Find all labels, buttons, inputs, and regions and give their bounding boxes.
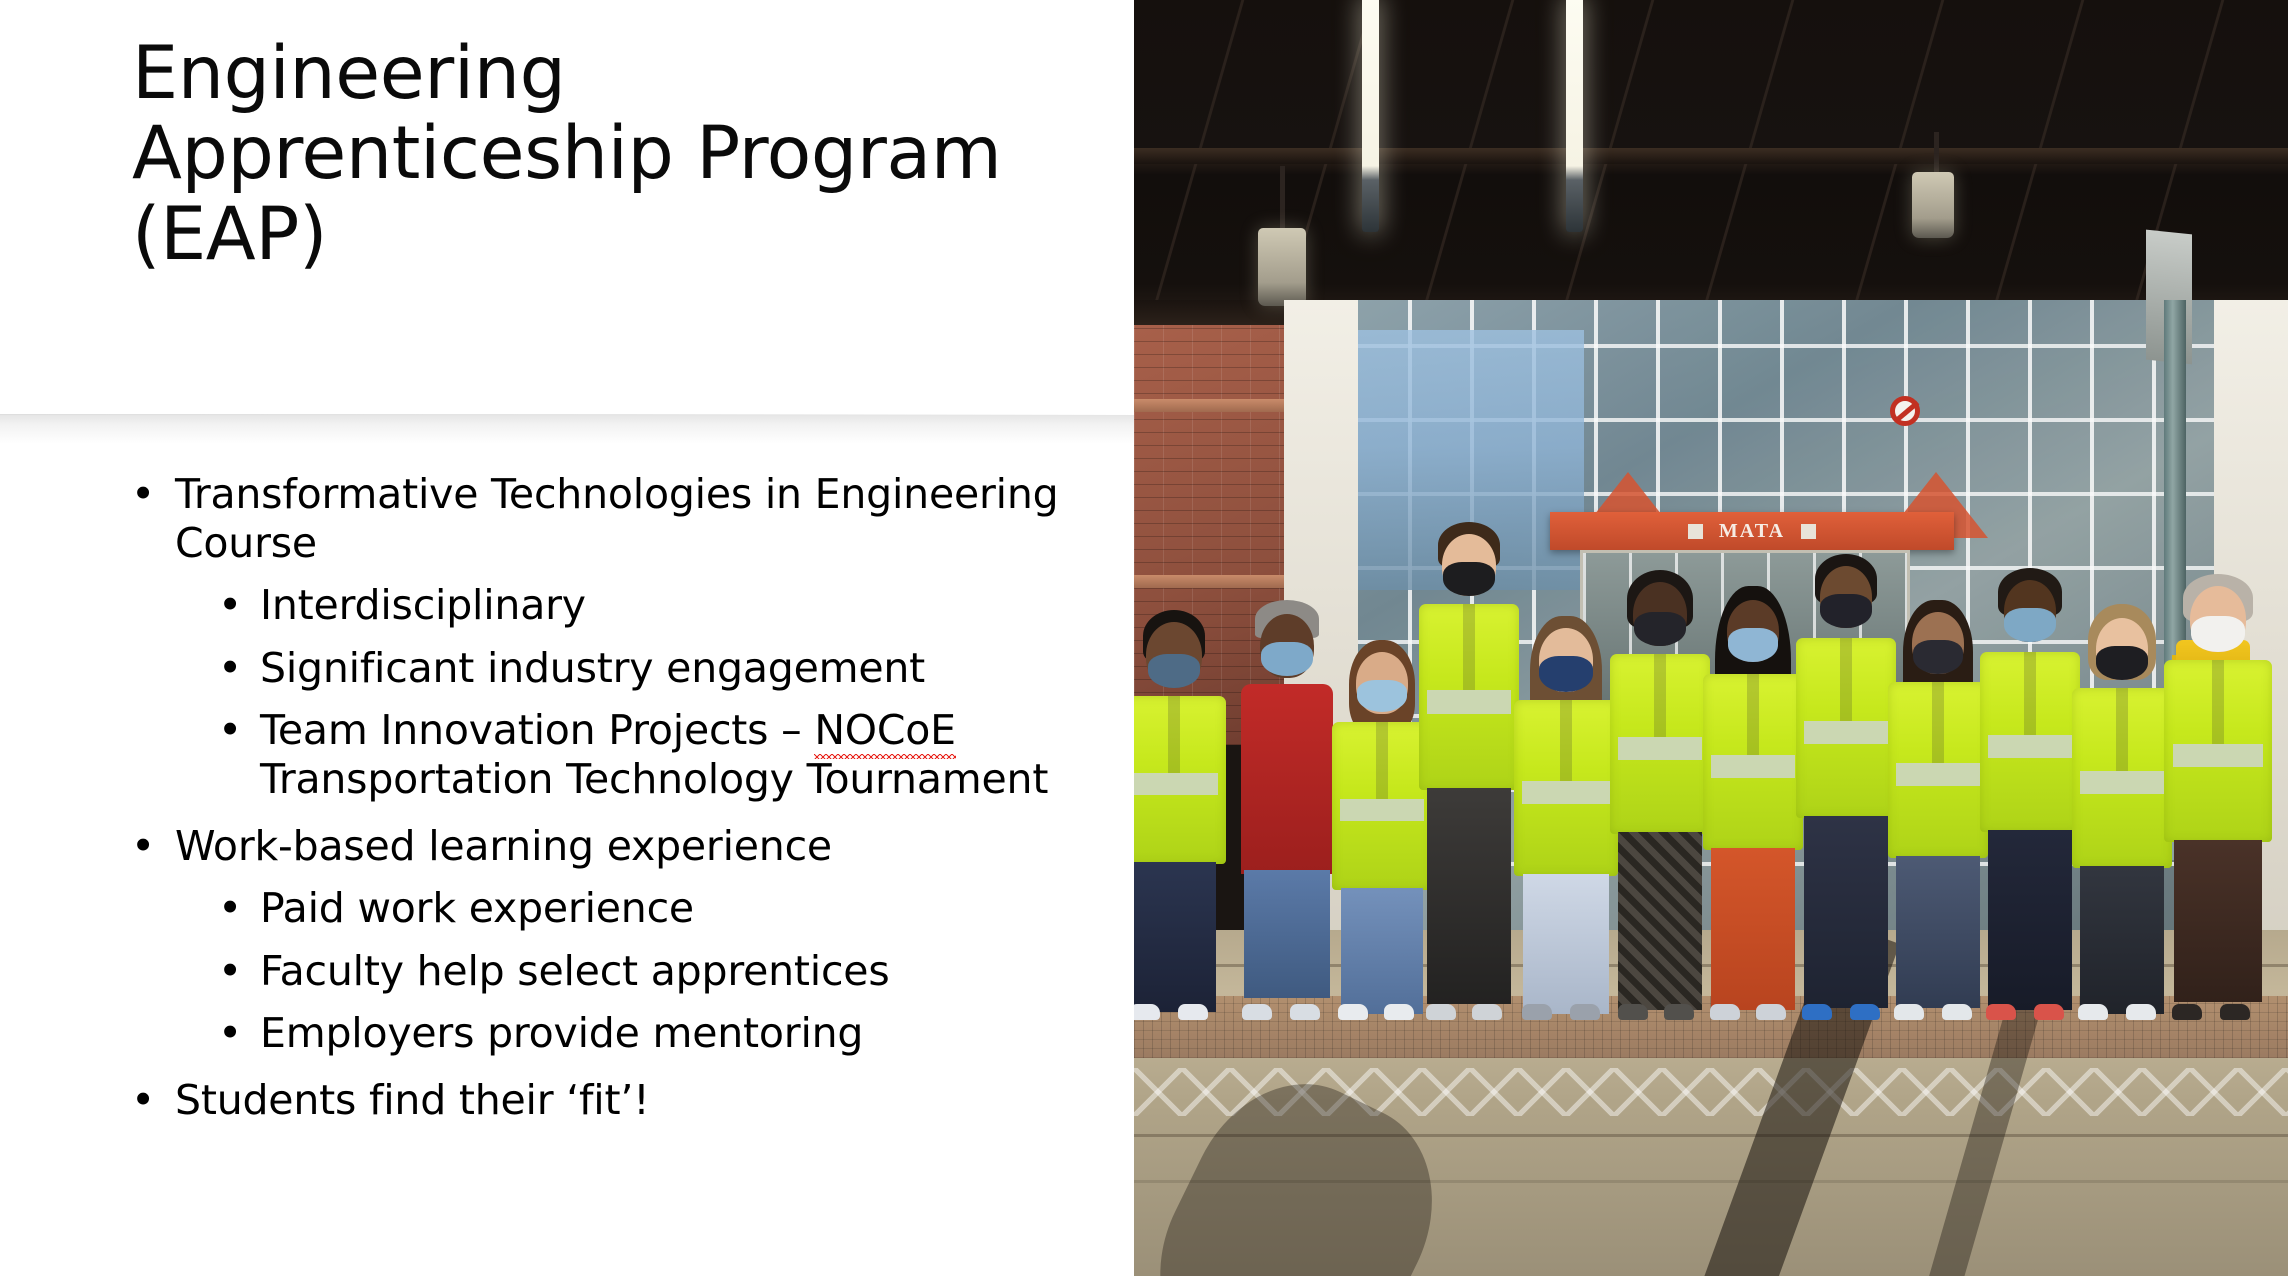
safety-vest	[1980, 652, 2080, 832]
bullet-list-level-2: • Paid work experience • Faculty help se…	[0, 884, 1134, 1058]
legs	[1134, 862, 1216, 1012]
bullet-dot-icon: •	[218, 884, 242, 933]
safety-vest	[1134, 696, 1226, 864]
face-mask	[1539, 656, 1593, 692]
slide: Engineering Apprenticeship Program (EAP)…	[0, 0, 2288, 1276]
legs	[1523, 874, 1609, 1014]
bullet-text: Significant industry engagement	[260, 644, 925, 692]
face-mask	[2004, 608, 2056, 642]
legs	[1896, 856, 1980, 1008]
slide-text-pane: Engineering Apprenticeship Program (EAP)…	[0, 0, 1134, 1276]
legs	[2174, 840, 2262, 1002]
shoe	[1664, 1004, 1694, 1020]
shoe	[1710, 1004, 1740, 1020]
safety-vest	[2164, 660, 2272, 842]
bullet-text-before: Team Innovation Projects –	[260, 706, 814, 754]
ceiling	[1134, 0, 2288, 330]
safety-vest	[1419, 604, 1519, 790]
bullet-item: • Work-based learning experience	[0, 822, 1134, 871]
face-mask	[1634, 612, 1686, 646]
bullet-item: • Interdisciplinary	[0, 581, 1134, 630]
fluorescent-tube-light	[1362, 0, 1379, 232]
legs	[1804, 816, 1888, 1008]
fluorescent-tube-light	[1566, 0, 1583, 232]
safety-vest	[1514, 700, 1618, 876]
bullet-text: Employers provide mentoring	[260, 1009, 863, 1057]
shoe	[1942, 1004, 1972, 1020]
shoe	[1802, 1004, 1832, 1020]
torso-shirt	[1241, 684, 1333, 874]
bullet-text: Paid work experience	[260, 884, 694, 932]
shoe	[1894, 1004, 1924, 1020]
person	[1978, 574, 2082, 1020]
shoe	[1522, 1004, 1552, 1020]
legs	[1244, 870, 1330, 998]
face-mask	[1357, 680, 1407, 712]
bullet-dot-icon: •	[218, 644, 242, 693]
person	[1134, 600, 1228, 1020]
bullet-dot-icon: •	[131, 470, 155, 519]
pendant-lamp-icon	[1912, 172, 1954, 238]
person	[1794, 568, 1898, 1020]
no-parking-sign-icon	[1890, 396, 1920, 426]
legs	[1618, 832, 1702, 1010]
shoe	[1756, 1004, 1786, 1020]
legs	[1988, 830, 2072, 1010]
bullet-text: Faculty help select apprentices	[260, 947, 889, 995]
face-mask	[1913, 640, 1963, 674]
person	[1416, 550, 1522, 1020]
shoe	[1134, 1004, 1160, 1020]
safety-vest	[1610, 654, 1710, 834]
legs	[1427, 788, 1511, 1004]
bullet-dot-icon: •	[218, 706, 242, 755]
bullet-text: Transformative Technologies in Engineeri…	[175, 470, 1058, 567]
bullet-list-level-2: • Interdisciplinary • Significant indust…	[0, 581, 1134, 804]
person	[2070, 588, 2174, 1020]
bullet-item: • Students find their ‘fit’!	[0, 1076, 1134, 1125]
bullet-dot-icon: •	[131, 1076, 155, 1125]
shoe	[2078, 1004, 2108, 1020]
bullet-item: • Team Innovation Projects – NOCoE Trans…	[0, 706, 1134, 804]
title-block: Engineering Apprenticeship Program (EAP)	[132, 34, 1072, 275]
bullet-item: • Employers provide mentoring	[0, 1009, 1134, 1058]
shoe	[1618, 1004, 1648, 1020]
face-mask	[1443, 562, 1495, 596]
station-group-photo: MATA	[1134, 0, 2288, 1276]
legs	[2080, 866, 2164, 1014]
face-mask	[1728, 628, 1778, 662]
shoe	[1986, 1004, 2016, 1020]
bullet-dot-icon: •	[218, 581, 242, 630]
awning-square-icon	[1688, 524, 1703, 539]
bullet-text: Interdisciplinary	[260, 581, 586, 629]
face-mask	[1148, 654, 1200, 688]
spelling-error-text: NOCoE	[814, 706, 956, 755]
safety-vest	[1888, 682, 1988, 858]
shoe	[1850, 1004, 1880, 1020]
person	[1886, 582, 1990, 1020]
bullet-text-after: Transportation Technology Tournament	[260, 755, 1048, 803]
safety-vest	[1703, 674, 1803, 850]
shoe	[2034, 1004, 2064, 1020]
shoe	[1384, 1004, 1414, 1020]
bullet-item: • Significant industry engagement	[0, 644, 1134, 693]
shoe	[1570, 1004, 1600, 1020]
face-mask	[2096, 646, 2148, 680]
safety-vest	[1796, 638, 1896, 818]
person	[2162, 570, 2274, 1020]
bullet-list-level-1: • Transformative Technologies in Enginee…	[0, 470, 1134, 1125]
safety-vest	[2072, 688, 2172, 868]
slide-title: Engineering Apprenticeship Program (EAP)	[132, 34, 1072, 275]
shoe	[1290, 1004, 1320, 1020]
bullet-item: • Transformative Technologies in Enginee…	[0, 470, 1134, 568]
person	[1512, 590, 1620, 1020]
lamp-rod	[1280, 166, 1285, 232]
bullet-text: Work-based learning experience	[175, 822, 832, 870]
pendant-lamp-icon	[1258, 228, 1306, 306]
shoe	[2172, 1004, 2202, 1020]
shoe	[1178, 1004, 1208, 1020]
bullet-item: • Faculty help select apprentices	[0, 947, 1134, 996]
bullet-text: Students find their ‘fit’!	[175, 1076, 649, 1124]
shoe	[1338, 1004, 1368, 1020]
legs	[1711, 848, 1795, 1010]
shoe	[2126, 1004, 2156, 1020]
person	[1608, 570, 1712, 1020]
shoe	[1242, 1004, 1272, 1020]
face-mask	[1261, 642, 1313, 676]
legs	[1341, 888, 1423, 1014]
person	[1234, 580, 1340, 1020]
bullet-dot-icon: •	[218, 947, 242, 996]
bullet-item: • Paid work experience	[0, 884, 1134, 933]
title-divider	[0, 414, 1134, 444]
awning-square-icon	[1801, 524, 1816, 539]
face-mask	[1820, 594, 1872, 628]
person	[1700, 580, 1806, 1020]
shoe	[1472, 1004, 1502, 1020]
lamp-rod	[1934, 132, 1939, 176]
face-mask	[2191, 616, 2245, 652]
shoe	[2220, 1004, 2250, 1020]
slide-body: • Transformative Technologies in Enginee…	[0, 470, 1134, 1138]
bullet-dot-icon: •	[131, 822, 155, 871]
bullet-dot-icon: •	[218, 1009, 242, 1058]
shoe	[1426, 1004, 1456, 1020]
group-of-people	[1134, 540, 2288, 1020]
